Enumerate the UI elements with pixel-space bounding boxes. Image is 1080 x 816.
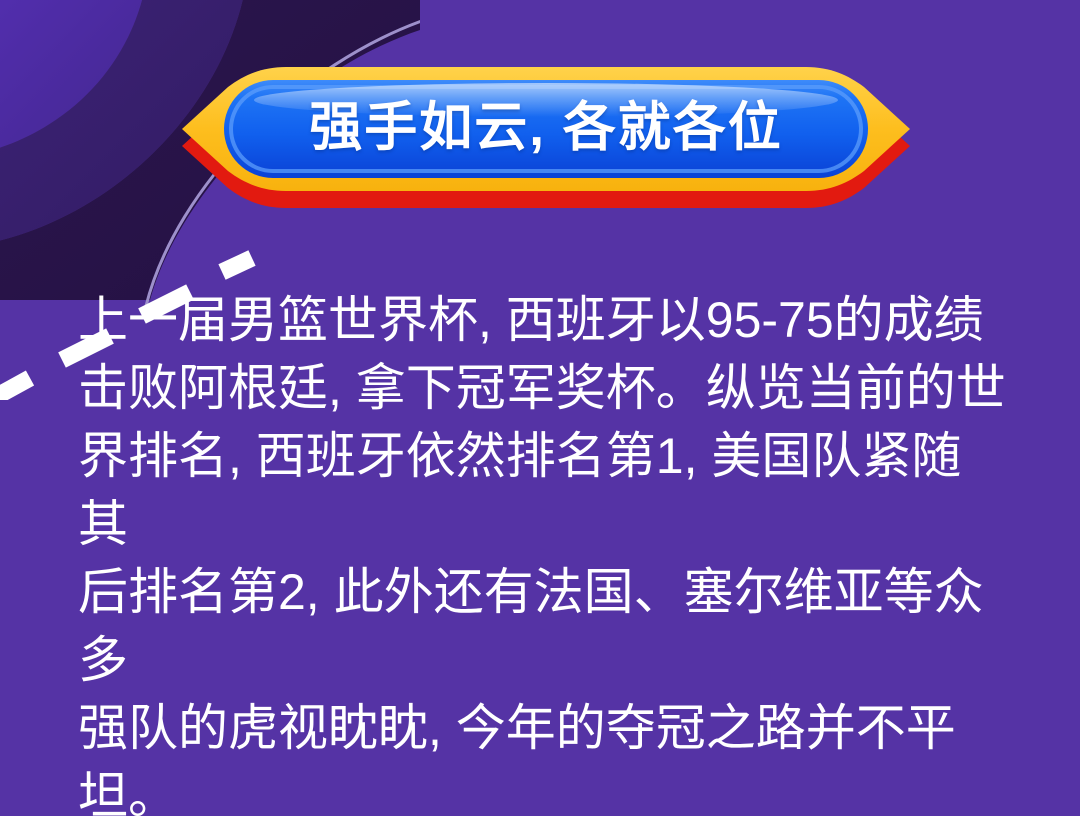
- poster-canvas: 强手如云, 各就各位 上一届男篮世界杯, 西班牙以95-75的成绩 击败阿根廷,…: [0, 0, 1080, 816]
- track-band-outer: [0, 0, 150, 160]
- banner-title-text: 强手如云, 各就各位: [182, 48, 910, 210]
- body-paragraph: 上一届男篮世界杯, 西班牙以95-75的成绩 击败阿根廷, 拿下冠军奖杯。纵览当…: [78, 286, 1008, 816]
- body-line: 强队的虎视眈眈, 今年的夺冠之路并不平坦。: [78, 694, 1008, 816]
- title-banner: 强手如云, 各就各位: [182, 48, 910, 210]
- body-line: 击败阿根廷, 拿下冠军奖杯。纵览当前的世: [78, 354, 1008, 422]
- body-line: 后排名第2, 此外还有法国、塞尔维亚等众多: [78, 558, 1008, 694]
- body-line: 上一届男篮世界杯, 西班牙以95-75的成绩: [78, 286, 1008, 354]
- body-line: 界排名, 西班牙依然排名第1, 美国队紧随其: [78, 422, 1008, 558]
